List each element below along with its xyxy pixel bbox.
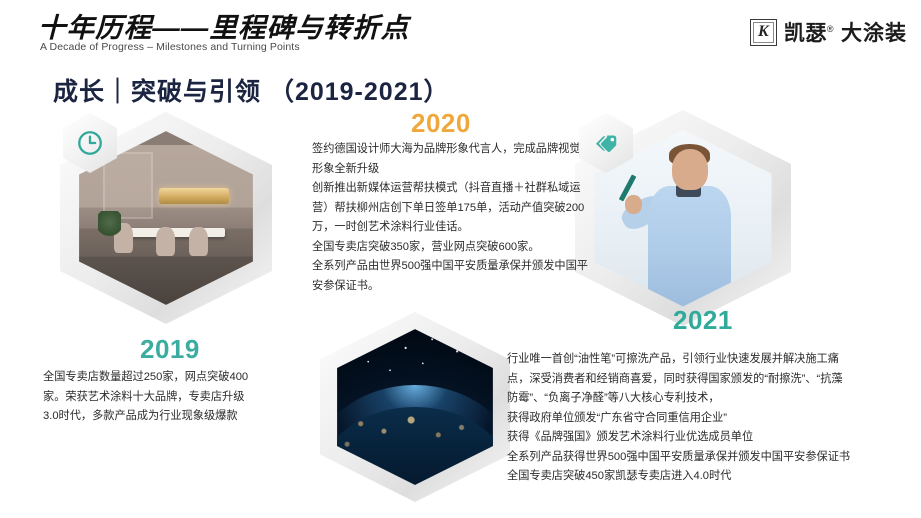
photo-detail-shirt [648,186,731,306]
year-label-2020: 2020 [411,108,471,139]
photo-detail-chair [189,227,208,257]
clock-icon [76,129,104,157]
logo-brand-name: 凯瑟® [784,17,834,47]
tag-icon [592,129,620,157]
photo-detail-chair [156,227,175,257]
photo-detail-plant [98,211,121,239]
text-line: 万，一时创艺术涂料行业佳话。 [312,218,580,238]
text-line: 家。荣获艺术涂料十大品牌，专卖店升级 [43,388,323,408]
text-line: 行业唯一首创“油性笔”可擦洗产品，引领行业快速发展并解决施工痛 [507,350,907,370]
brand-logo: K 凯瑟® 大涂装 [750,17,907,47]
text-line: 安参保证书。 [312,277,580,297]
text-line: 全国专卖店数量超过250家，网点突破400 [43,368,323,388]
year-label-2019: 2019 [140,334,200,365]
text-line: 获得《品牌强国》颁发艺术涂料行业优选成员单位 [507,428,907,448]
text-line: 全国专卖店突破350家，营业网点突破600家。 [312,238,580,258]
text-line: 创新推出新媒体运营帮扶模式（抖音直播＋社群私域运 [312,179,580,199]
text-line: 3.0时代，多款产品成为行业现象级爆款 [43,407,323,427]
milestone-text-2019: 全国专卖店数量超过250家，网点突破400 家。荣获艺术涂料十大品牌，专卖店升级… [43,368,323,427]
text-line: 获得政府单位颁发“广东省守合同重信用企业” [507,409,907,429]
photo-detail-head [672,149,707,190]
text-line: 点，深受消费者和经销商喜爱，同时获得国家颁发的“耐擦洗”、“抗藻 [507,370,907,390]
text-line: 营）帮扶柳州店创下单日签单175单，活动产值突破200 [312,199,580,219]
milestone-text-2021: 行业唯一首创“油性笔”可擦洗产品，引领行业快速发展并解决施工痛 点，深受消费者和… [507,350,907,487]
section-title: 成长｜突破与引领 （2019-2021） [53,72,450,108]
text-line: 全系列产品获得世界500强中国平安质量承保并颁发中国平安参保证书 [507,448,907,468]
logo-mark-icon: K [750,19,777,46]
text-line: 形象全新升级 [312,160,580,180]
page-header: 十年历程——里程碑与转折点 A Decade of Progress – Mil… [0,0,921,62]
logo-mark-letter: K [758,24,769,40]
text-line: 签约德国设计师大海为品牌形象代言人，完成品牌视觉 [312,140,580,160]
year-label-2021: 2021 [673,305,733,336]
page-title: 十年历程——里程碑与转折点 [38,6,409,45]
milestone-photo-2021 [320,312,510,502]
text-line: 防霉”、“负离子净醛”等八大核心专利技术， [507,389,907,409]
page-subtitle: A Decade of Progress – Milestones and Tu… [40,41,300,53]
registered-trademark-icon: ® [827,24,834,34]
milestone-text-2020: 签约德国设计师大海为品牌形象代言人，完成品牌视觉 形象全新升级 创新推出新媒体运… [312,140,580,296]
logo-tagline: 大涂装 [841,17,907,47]
text-line: 全系列产品由世界500强中国平安质量承保并颁发中国平 [312,257,580,277]
text-line: 全国专卖店突破450家凯瑟专卖店进入4.0时代 [507,467,907,487]
photo-detail-hand [625,195,643,214]
